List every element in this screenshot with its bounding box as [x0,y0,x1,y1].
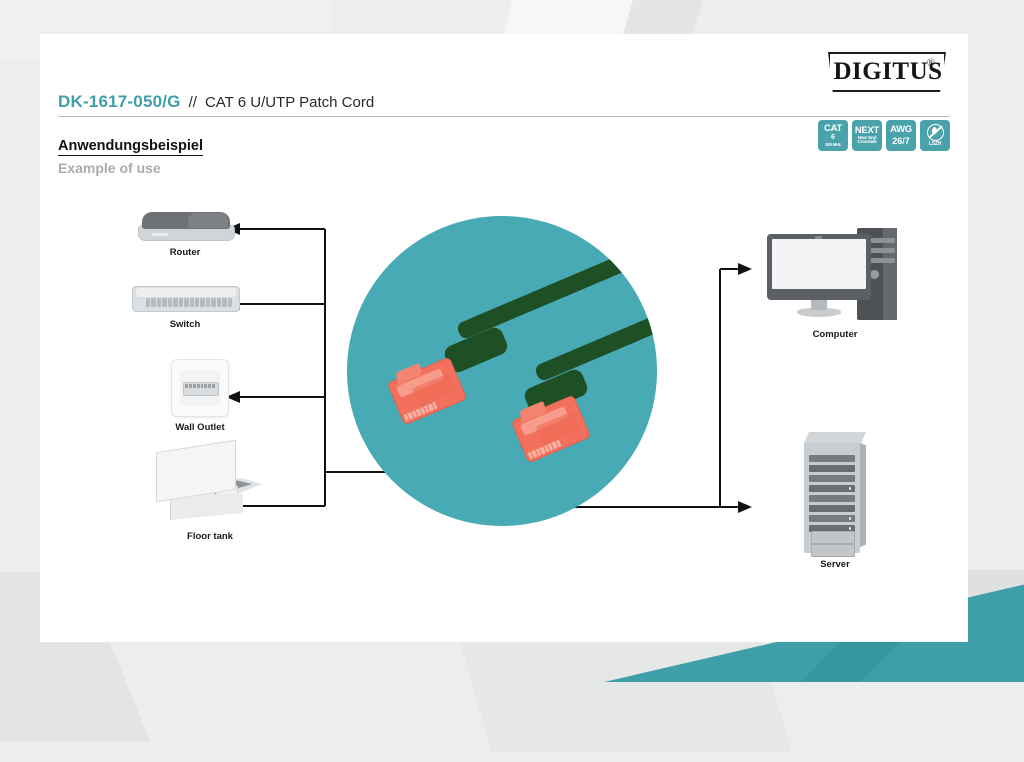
rj45-plug-right [511,395,592,464]
datasheet-card: DIGITUS ® DK-1617-050/G // CAT 6 U/UTP P… [40,34,968,642]
product-title-line: DK-1617-050/G // CAT 6 U/UTP Patch Cord [58,92,950,116]
digitus-logo: DIGITUS ® [828,52,946,92]
patch-cable-upper [456,216,657,340]
badge-awg-sub: 26/7 [892,137,910,146]
flame-icon [932,127,937,134]
node-wall-outlet-label: Wall Outlet [115,422,285,433]
switch-icon [132,284,238,314]
node-switch-label: Switch [115,319,255,330]
floor-tank-icon [154,446,266,526]
badge-lszh: LSZH [920,120,950,151]
badge-cat6-tiny: 500 MHz [825,143,840,147]
badge-awg: AWG 26/7 [886,120,916,151]
node-server: Server [745,432,925,570]
node-computer: Computer [745,226,925,340]
badge-cat6-main: CAT [824,124,842,134]
server-icon [804,432,866,554]
node-router-label: Router [115,247,255,258]
badge-next-line2: Crosstalk [857,140,876,145]
product-image-circle [347,216,657,526]
badge-awg-main: AWG [890,125,912,135]
no-flame-icon [927,124,944,141]
node-server-label: Server [745,559,925,570]
product-title-row: DK-1617-050/G // CAT 6 U/UTP Patch Cord [58,92,950,117]
router-icon [138,212,233,242]
badge-lszh-label: LSZH [929,142,941,147]
badge-cat6-sub: 6 [831,134,835,141]
product-sku: DK-1617-050/G [58,92,181,112]
registered-trademark-icon: ® [927,57,935,69]
section-heading-english: Example of use [58,160,161,176]
section-heading-german: Anwendungsbeispiel [58,138,203,156]
node-computer-label: Computer [745,329,925,340]
feature-badge-group: CAT 6 500 MHz NEXT Near End Crosstalk AW… [818,120,950,151]
badge-next: NEXT Near End Crosstalk [852,120,882,151]
node-floor-tank-label: Floor tank [115,531,305,542]
product-name: CAT 6 U/UTP Patch Cord [205,94,374,111]
node-switch: Switch [115,284,255,330]
title-separator: // [189,94,197,111]
usage-diagram: Router Switch [40,184,968,614]
node-wall-outlet: Wall Outlet [115,359,285,433]
badge-cat6: CAT 6 500 MHz [818,120,848,151]
computer-icon [767,226,903,324]
wall-outlet-icon [171,359,229,417]
node-floor-tank: Floor tank [115,446,305,542]
title-divider [58,116,950,117]
node-router: Router [115,212,255,258]
